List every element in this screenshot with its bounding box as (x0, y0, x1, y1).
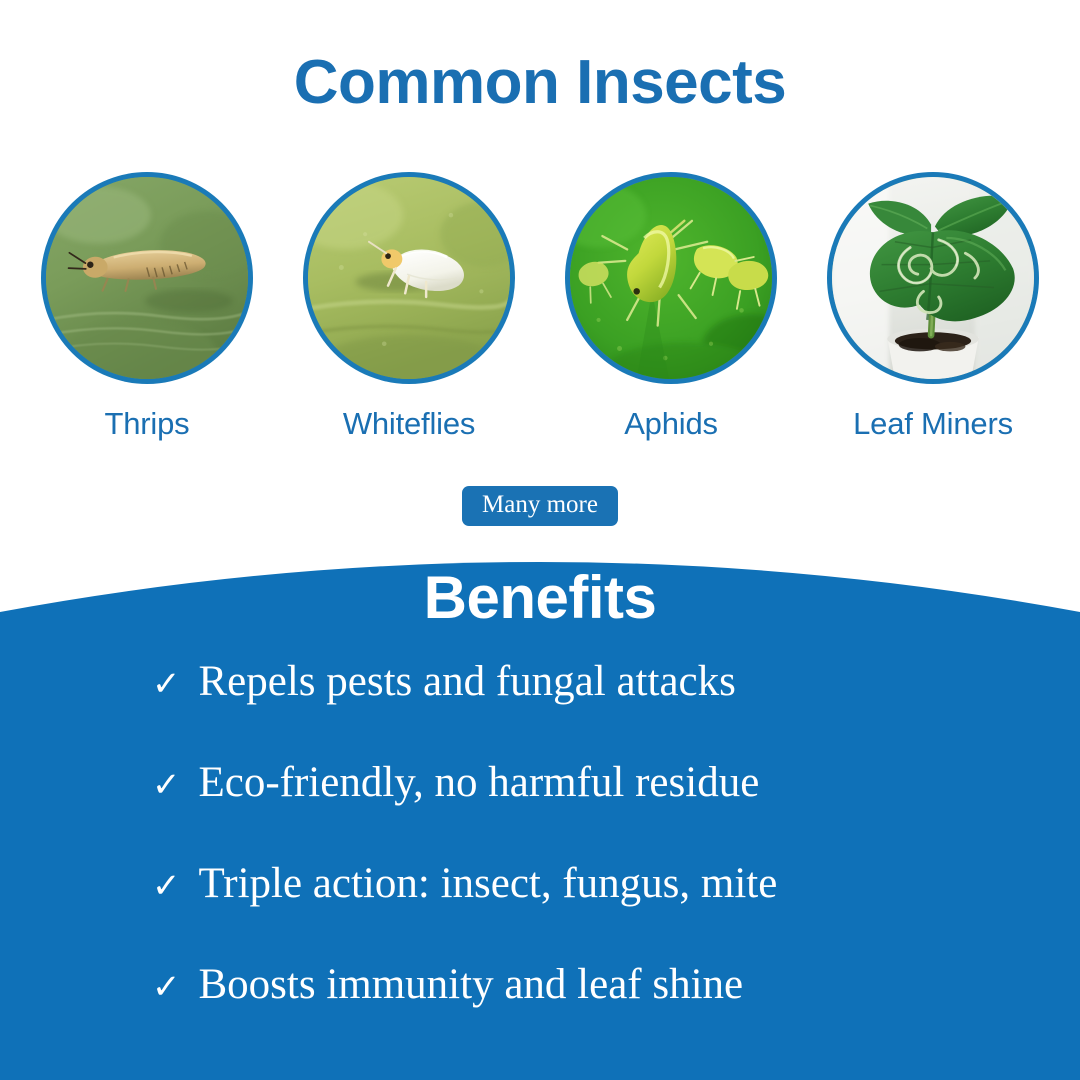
benefits-list: ✓ Repels pests and fungal attacks ✓ Eco-… (0, 660, 1080, 1064)
benefit-item: ✓ Triple action: insect, fungus, mite (0, 862, 1080, 963)
infographic-root: Common Insects (0, 0, 1080, 1080)
page-title: Common Insects (0, 52, 1080, 114)
benefit-text: Boosts immunity and leaf shine (199, 963, 744, 1006)
benefits-section: Benefits ✓ Repels pests and fungal attac… (0, 520, 1080, 1080)
whitefly-photo (303, 172, 515, 384)
benefit-text: Eco-friendly, no harmful residue (199, 761, 760, 804)
insect-label-thrips: Thrips (105, 406, 190, 442)
benefits-title: Benefits (0, 568, 1080, 628)
benefit-text: Triple action: insect, fungus, mite (199, 862, 778, 905)
insect-card-thrips[interactable]: Thrips (36, 172, 258, 442)
insect-label-whiteflies: Whiteflies (343, 406, 475, 442)
check-icon: ✓ (152, 668, 181, 702)
check-icon: ✓ (152, 971, 181, 1005)
benefit-item: ✓ Boosts immunity and leaf shine (0, 963, 1080, 1064)
leaf-miners-photo (827, 172, 1039, 384)
aphids-photo (565, 172, 777, 384)
insect-card-leaf-miners[interactable]: Leaf Miners (822, 172, 1044, 442)
thrips-photo (41, 172, 253, 384)
check-icon: ✓ (152, 769, 181, 803)
insect-label-aphids: Aphids (624, 406, 718, 442)
check-icon: ✓ (152, 870, 181, 904)
insect-card-aphids[interactable]: Aphids (560, 172, 782, 442)
benefit-item: ✓ Eco-friendly, no harmful residue (0, 761, 1080, 862)
benefit-item: ✓ Repels pests and fungal attacks (0, 660, 1080, 761)
benefits-content: Benefits ✓ Repels pests and fungal attac… (0, 520, 1080, 1080)
insect-card-whiteflies[interactable]: Whiteflies (298, 172, 520, 442)
benefit-text: Repels pests and fungal attacks (199, 660, 736, 703)
insect-label-leaf-miners: Leaf Miners (853, 406, 1013, 442)
insect-list: Thrips (0, 172, 1080, 442)
